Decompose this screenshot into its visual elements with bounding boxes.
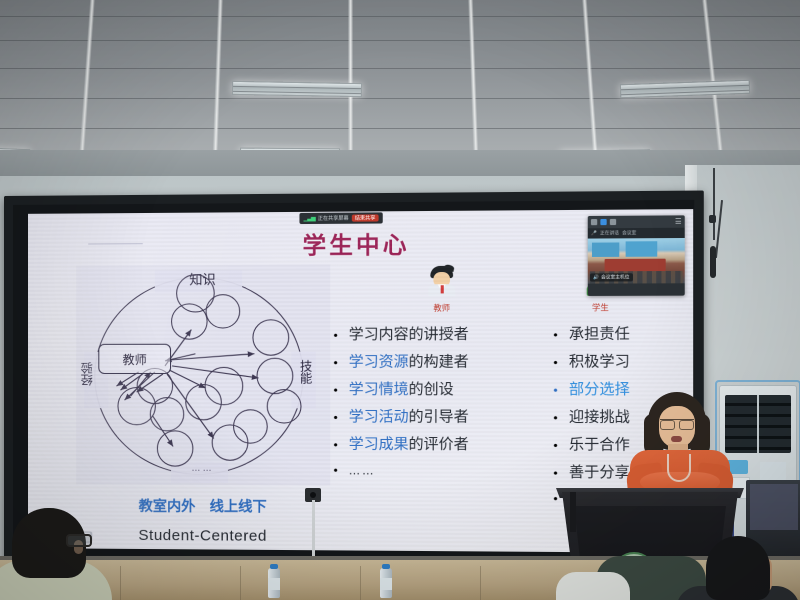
ceiling-light: [620, 80, 750, 99]
share-session-label: 正在共享屏幕: [318, 215, 349, 222]
video-sub-label-2: 会议室: [622, 230, 636, 236]
participant-name-badge: 🔊 会议室主机位: [590, 273, 633, 281]
audience-eyeglasses: [66, 534, 92, 547]
lecture-room-photo: ▁▃▅ 正在共享屏幕 结束共享 ☰ 🎤 正在讲话 会议室: [0, 0, 800, 600]
camera-lens-icon: [310, 492, 316, 498]
eyeglasses: [660, 419, 694, 427]
microphone-icon: 🎤: [591, 230, 597, 236]
video-sub-label-1: 正在讲话: [600, 230, 619, 236]
audience-member-head: [706, 536, 770, 600]
stop-share-button[interactable]: 结束共享: [352, 214, 379, 221]
hanging-microphone: [710, 246, 716, 278]
hamburger-menu-icon[interactable]: ☰: [675, 218, 682, 225]
microphone-cable: [713, 168, 715, 240]
participant-name: 会议室主机位: [601, 274, 629, 280]
microphone-clip: [709, 215, 716, 223]
ceiling-light: [232, 81, 362, 97]
signal-bars-icon: ▁▃▅: [304, 215, 315, 222]
camera-stand: [312, 500, 315, 562]
ac-grille-divider: [757, 395, 759, 453]
chair-back: [570, 492, 576, 532]
video-feed: 🔊 会议室主机位: [588, 238, 685, 284]
video-conference-window[interactable]: ☰ 🎤 正在讲话 会议室 🔊 会议室主机位: [588, 215, 685, 296]
video-window-titlebar[interactable]: ☰: [588, 215, 685, 228]
audience-member-seated: [556, 572, 630, 600]
restore-icon[interactable]: [600, 219, 606, 225]
speaker-icon: 🔊: [593, 274, 599, 280]
screen-share-bar[interactable]: ▁▃▅ 正在共享屏幕 结束共享: [299, 212, 382, 224]
necklace: [667, 454, 691, 482]
close-icon[interactable]: [610, 219, 616, 225]
minimize-icon[interactable]: [591, 219, 597, 225]
wall-beam: [0, 150, 800, 176]
video-window-subbar: 🎤 正在讲话 会议室: [588, 228, 685, 239]
